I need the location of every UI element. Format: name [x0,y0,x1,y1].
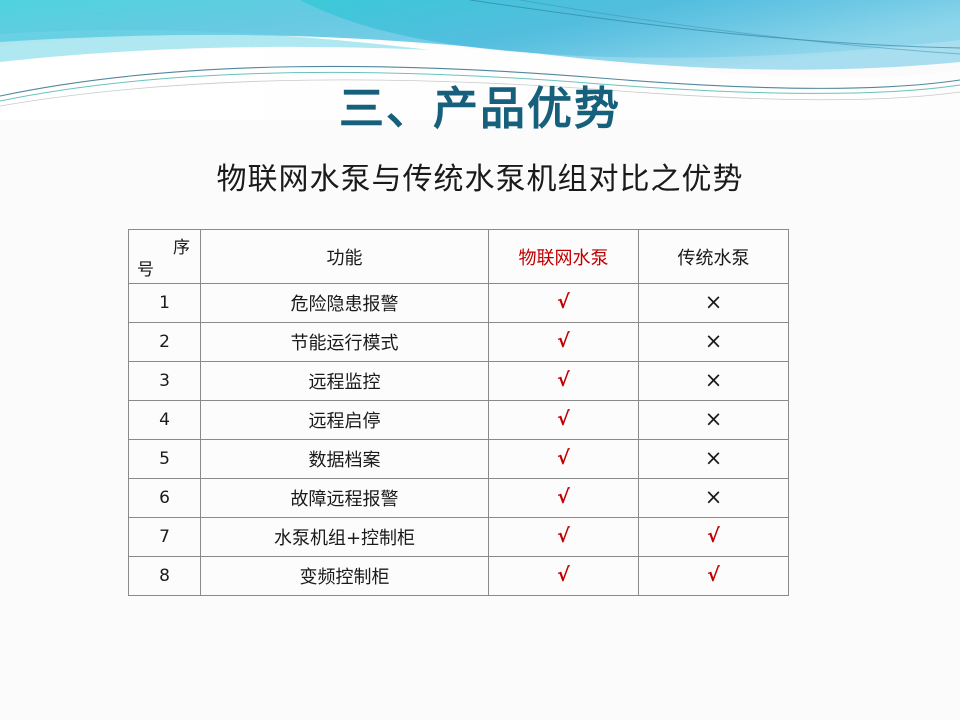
cell-iot-support: √ [489,479,639,518]
traditional-mark-cross-icon: × [705,407,723,431]
cell-iot-support: √ [489,440,639,479]
comparison-table: 序 号 功能 物联网水泵 传统水泵 1危险隐患报警√×2节能运行模式√×3远程监… [128,229,789,596]
function-value: 远程监控 [309,372,381,393]
traditional-mark-cross-icon: × [705,446,723,470]
function-value: 远程启停 [309,411,381,432]
cell-iot-support: √ [489,362,639,401]
traditional-mark-cross-icon: × [705,290,723,314]
iot-mark-check-icon: √ [557,447,570,469]
cell-function: 数据档案 [201,440,489,479]
function-value: 水泵机组+控制柜 [274,528,415,549]
banner-line-upper-a [470,0,960,48]
table-row: 2节能运行模式√× [129,323,789,362]
banner-band-primary [0,0,960,70]
table-row: 5数据档案√× [129,440,789,479]
table-row: 3远程监控√× [129,362,789,401]
cell-function: 远程监控 [201,362,489,401]
traditional-mark-check-icon: √ [707,564,720,586]
index-value: 7 [159,527,170,547]
traditional-mark-check-icon: √ [707,525,720,547]
table-row: 7水泵机组+控制柜√√ [129,518,789,557]
cell-index: 5 [129,440,201,479]
index-value: 3 [159,371,170,391]
cell-traditional-support: × [639,440,789,479]
cell-iot-support: √ [489,518,639,557]
banner-band-secondary [300,0,960,58]
index-value: 5 [159,449,170,469]
index-value: 2 [159,332,170,352]
function-value: 变频控制柜 [300,567,390,588]
banner-wedge [0,30,430,62]
index-header-top: 序 [173,233,190,258]
cell-function: 危险隐患报警 [201,284,489,323]
function-value: 数据档案 [309,450,381,471]
cell-index: 4 [129,401,201,440]
iot-mark-check-icon: √ [557,291,570,313]
cell-traditional-support: √ [639,518,789,557]
cell-function: 水泵机组+控制柜 [201,518,489,557]
column-header-index: 序 号 [129,230,201,284]
cell-traditional-support: × [639,323,789,362]
function-value: 节能运行模式 [291,333,399,354]
iot-mark-check-icon: √ [557,330,570,352]
cell-traditional-support: × [639,362,789,401]
index-value: 1 [159,293,170,313]
table-header-row: 序 号 功能 物联网水泵 传统水泵 [129,230,789,284]
index-value: 8 [159,566,170,586]
cell-function: 故障远程报警 [201,479,489,518]
iot-mark-check-icon: √ [557,369,570,391]
iot-mark-check-icon: √ [557,525,570,547]
cell-traditional-support: × [639,284,789,323]
page-title: 三、产品优势 [0,86,960,131]
cell-index: 6 [129,479,201,518]
column-header-traditional-pump: 传统水泵 [639,230,789,284]
banner-line-upper-b [520,0,960,54]
cell-index: 2 [129,323,201,362]
cell-traditional-support: × [639,479,789,518]
cell-index: 1 [129,284,201,323]
iot-mark-check-icon: √ [557,564,570,586]
traditional-mark-cross-icon: × [705,485,723,509]
column-header-iot-pump: 物联网水泵 [489,230,639,284]
cell-function: 变频控制柜 [201,557,489,596]
table-row: 4远程启停√× [129,401,789,440]
iot-mark-check-icon: √ [557,408,570,430]
index-value: 6 [159,488,170,508]
page-subtitle: 物联网水泵与传统水泵机组对比之优势 [0,163,960,198]
cell-index: 8 [129,557,201,596]
traditional-mark-cross-icon: × [705,368,723,392]
index-value: 4 [159,410,170,430]
cell-index: 3 [129,362,201,401]
cell-index: 7 [129,518,201,557]
column-header-function: 功能 [201,230,489,284]
traditional-mark-cross-icon: × [705,329,723,353]
iot-mark-check-icon: √ [557,486,570,508]
table-row: 6故障远程报警√× [129,479,789,518]
table-row: 8变频控制柜√√ [129,557,789,596]
cell-traditional-support: √ [639,557,789,596]
cell-iot-support: √ [489,401,639,440]
cell-function: 节能运行模式 [201,323,489,362]
cell-iot-support: √ [489,323,639,362]
function-value: 危险隐患报警 [291,294,399,315]
function-value: 故障远程报警 [291,489,399,510]
table-row: 1危险隐患报警√× [129,284,789,323]
cell-iot-support: √ [489,557,639,596]
index-header-bottom: 号 [137,255,154,280]
cell-iot-support: √ [489,284,639,323]
cell-function: 远程启停 [201,401,489,440]
cell-traditional-support: × [639,401,789,440]
